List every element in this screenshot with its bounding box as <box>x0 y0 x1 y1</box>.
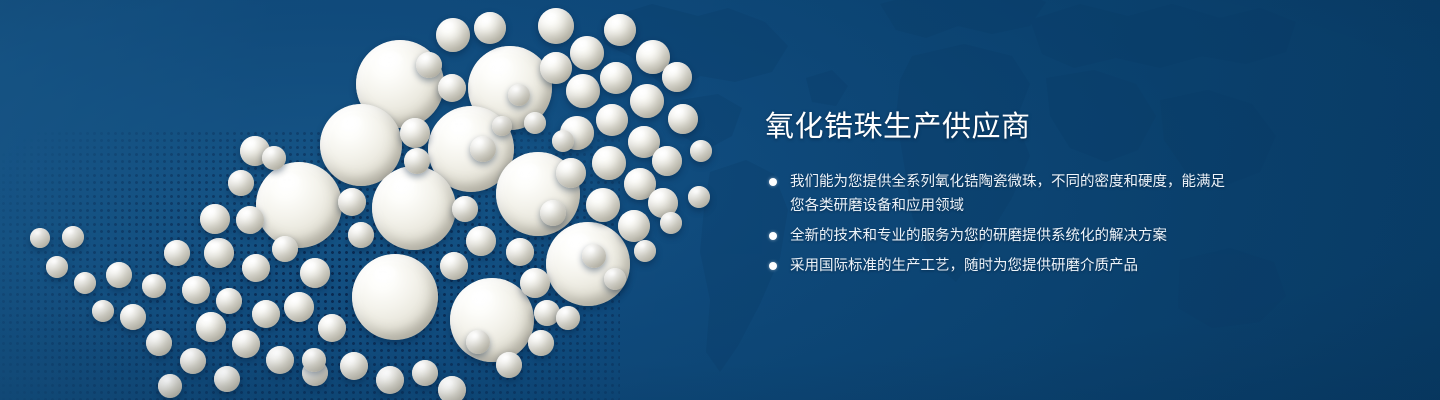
bullet-dot-icon <box>769 178 777 186</box>
feature-bullet-text: 我们能为您提供全系列氧化锆陶瓷微珠，不同的密度和硬度，能满足您各类研磨设备和应用… <box>790 174 1225 214</box>
feature-bullet-item: 采用国际标准的生产工艺，随时为您提供研磨介质产品 <box>765 254 1235 278</box>
hero-banner: 氧化锆珠生产供应商 我们能为您提供全系列氧化锆陶瓷微珠，不同的密度和硬度，能满足… <box>0 0 1440 400</box>
bullet-dot-icon <box>769 262 777 270</box>
banner-headline: 氧化锆珠生产供应商 <box>765 110 1031 144</box>
feature-bullet-text: 采用国际标准的生产工艺，随时为您提供研磨介质产品 <box>790 258 1138 274</box>
feature-bullet-item: 我们能为您提供全系列氧化锆陶瓷微珠，不同的密度和硬度，能满足您各类研磨设备和应用… <box>765 170 1235 218</box>
feature-bullet-text: 全新的技术和专业的服务为您的研磨提供系统化的解决方案 <box>790 228 1167 244</box>
feature-bullet-list: 我们能为您提供全系列氧化锆陶瓷微珠，不同的密度和硬度，能满足您各类研磨设备和应用… <box>765 170 1235 284</box>
feature-bullet-item: 全新的技术和专业的服务为您的研磨提供系统化的解决方案 <box>765 224 1235 248</box>
bullet-dot-icon <box>769 232 777 240</box>
banner-content: 氧化锆珠生产供应商 我们能为您提供全系列氧化锆陶瓷微珠，不同的密度和硬度，能满足… <box>765 0 1325 400</box>
